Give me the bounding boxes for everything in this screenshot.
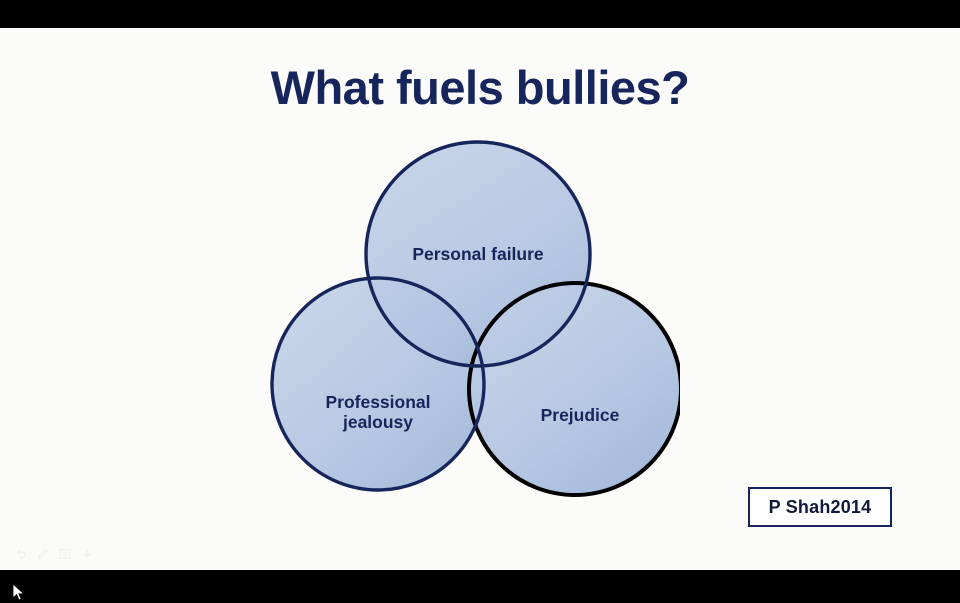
screen: What fuels bullies? xyxy=(0,0,960,600)
letterbox-bar-top xyxy=(0,0,960,28)
attribution-text: P Shah2014 xyxy=(769,497,872,518)
venn-diagram-svg xyxy=(270,108,680,498)
attribution-box: P Shah2014 xyxy=(748,487,892,527)
pointer-icon[interactable] xyxy=(80,547,94,561)
presentation-slide: What fuels bullies? xyxy=(0,28,960,570)
undo-icon[interactable] xyxy=(14,547,28,561)
menu-icon[interactable] xyxy=(58,547,72,561)
pen-icon[interactable] xyxy=(36,547,50,561)
letterbox-bar-bottom xyxy=(0,570,960,600)
player-toolbar[interactable] xyxy=(14,545,94,563)
